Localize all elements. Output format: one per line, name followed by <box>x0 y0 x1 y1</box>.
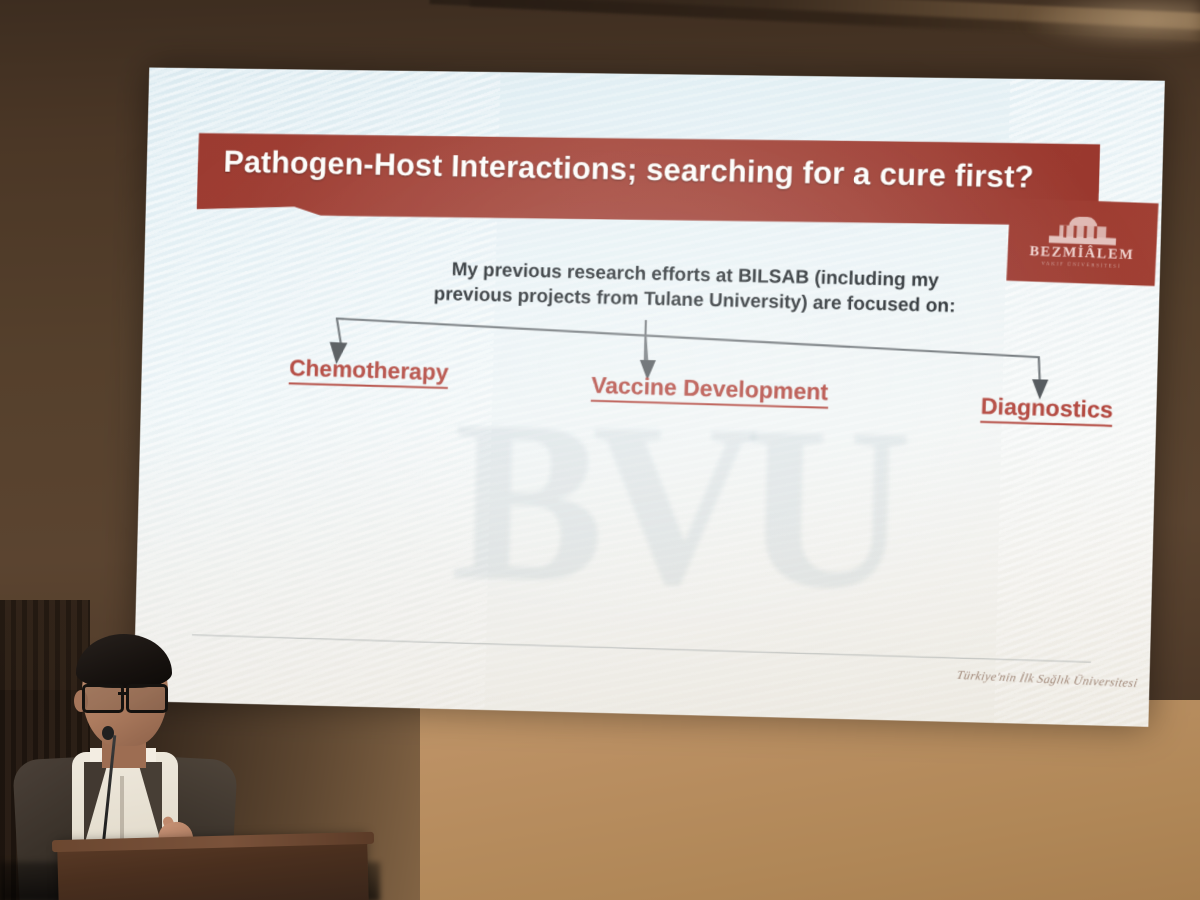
projection-screen: BVU Pathogen-Host Interactions; searchin… <box>133 67 1164 726</box>
ceiling-light-glow <box>1020 0 1200 50</box>
branch-label-vaccine-development[interactable]: Vaccine Development <box>591 372 829 409</box>
university-logo-name: BEZMİÂLEM <box>1029 245 1134 263</box>
presentation-photo-scene: BVU Pathogen-Host Interactions; searchin… <box>0 0 1200 900</box>
glasses-icon <box>82 684 172 708</box>
slide-footer-divider <box>192 634 1091 662</box>
slide-footer-tagline: Türkiye'nin İlk Sağlık Üniversitesi <box>955 668 1139 691</box>
university-logo-subtitle: VAKIF ÜNİVERSİTESİ <box>1041 261 1121 269</box>
slide-body-text: My previous research efforts at BILSAB (… <box>394 256 996 321</box>
branch-label-diagnostics[interactable]: Diagnostics <box>980 393 1113 427</box>
building-icon <box>1049 215 1117 246</box>
slide-watermark: BVU <box>461 371 888 640</box>
university-logo: BEZMİÂLEM VAKIF ÜNİVERSİTESİ <box>1006 198 1158 286</box>
presenter-hair <box>76 634 172 688</box>
branch-label-chemotherapy[interactable]: Chemotherapy <box>289 355 449 390</box>
